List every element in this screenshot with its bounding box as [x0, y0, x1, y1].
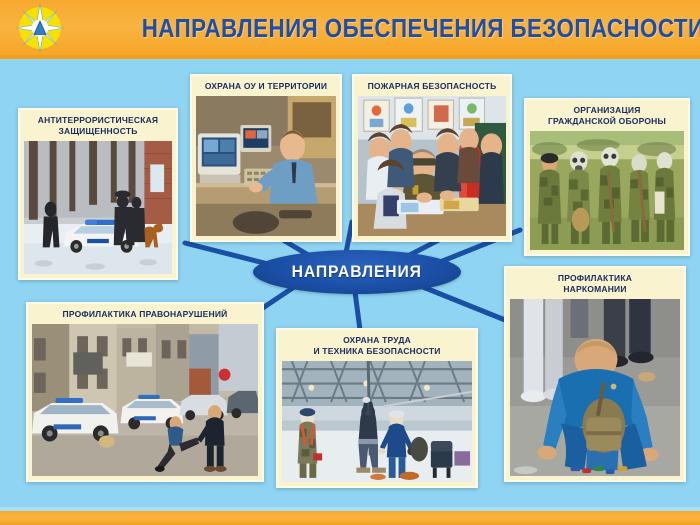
cadets-gas-masks-field-photo [530, 131, 684, 250]
police-patrol-with-dog-winter-photo [24, 141, 172, 274]
street-police-cars-youths-photo [32, 324, 258, 476]
panel-guard[interactable]: ОХРАНА ОУ И ТЕРРИТОРИИ [190, 74, 342, 242]
panel-antiterror-caption: АНТИТЕРРОРИСТИЧЕСКАЯ ЗАЩИЩЕННОСТЬ [20, 110, 176, 141]
safety-directions-poster: НАПРАВЛЕНИЯ ОБЕСПЕЧЕНИЯ БЕЗОПАСНОСТИ ОУ … [0, 0, 700, 525]
caption-line-1: ОХРАНА ОУ И ТЕРРИТОРИИ [195, 81, 337, 92]
panel-fire-caption: ПОЖАРНАЯ БЕЗОПАСНОСТЬ [354, 76, 510, 96]
center-hub-label: НАПРАВЛЕНИЯ [292, 262, 422, 282]
caption-line-2: И ТЕХНИКА БЕЗОПАСНОСТИ [281, 346, 473, 357]
caption-line-1: ПОЖАРНАЯ БЕЗОПАСНОСТЬ [357, 81, 507, 92]
center-hub-node: НАПРАВЛЕНИЯ [253, 250, 461, 294]
caption-line-1: ПРОФИЛАКТИКА ПРАВОНАРУШЕНИЙ [31, 309, 259, 320]
man-kneeling-on-pavement-photo [510, 299, 680, 476]
firefighter-teaching-students-photo [358, 96, 506, 236]
rope-climbing-safety-training-photo [282, 361, 472, 482]
panel-antiterror[interactable]: АНТИТЕРРОРИСТИЧЕСКАЯ ЗАЩИЩЕННОСТЬ [18, 108, 178, 280]
caption-line-1: ОРГАНИЗАЦИЯ [529, 105, 685, 116]
caption-line-1: АНТИТЕРРОРИСТИЧЕСКАЯ [23, 115, 173, 126]
panel-guard-caption: ОХРАНА ОУ И ТЕРРИТОРИИ [192, 76, 340, 96]
panel-offences-caption: ПРОФИЛАКТИКА ПРАВОНАРУШЕНИЙ [28, 304, 262, 324]
panel-labor-caption: ОХРАНА ТРУДА И ТЕХНИКА БЕЗОПАСНОСТИ [278, 330, 476, 361]
panel-offences[interactable]: ПРОФИЛАКТИКА ПРАВОНАРУШЕНИЙ [26, 302, 264, 482]
panel-civildefense-caption: ОРГАНИЗАЦИЯ ГРАЖДАНСКОЙ ОБОРОНЫ [526, 100, 688, 131]
caption-line-1: ПРОФИЛАКТИКА [509, 273, 681, 284]
panel-civildefense[interactable]: ОРГАНИЗАЦИЯ ГРАЖДАНСКОЙ ОБОРОНЫ [524, 98, 690, 256]
panel-fire[interactable]: ПОЖАРНАЯ БЕЗОПАСНОСТЬ [352, 74, 512, 242]
footer-bar [0, 511, 700, 525]
panel-drugs[interactable]: ПРОФИЛАКТИКА НАРКОМАНИИ [504, 266, 686, 482]
caption-line-2: ЗАЩИЩЕННОСТЬ [23, 126, 173, 137]
panel-drugs-caption: ПРОФИЛАКТИКА НАРКОМАНИИ [506, 268, 684, 299]
caption-line-2: НАРКОМАНИИ [509, 284, 681, 295]
panel-labor[interactable]: ОХРАНА ТРУДА И ТЕХНИКА БЕЗОПАСНОСТИ [276, 328, 478, 488]
security-guard-cctv-monitors-photo [196, 96, 336, 236]
caption-line-2: ГРАЖДАНСКОЙ ОБОРОНЫ [529, 116, 685, 127]
caption-line-1: ОХРАНА ТРУДА [281, 335, 473, 346]
